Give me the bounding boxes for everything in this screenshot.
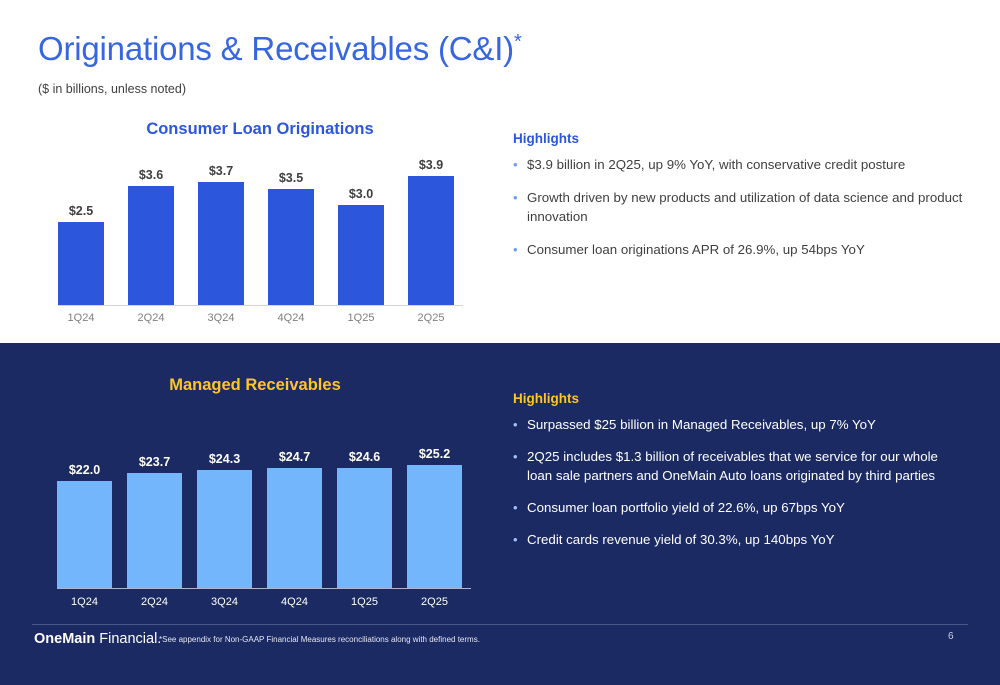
x-axis-category-label: 1Q25: [351, 596, 378, 608]
x-axis-category-label: 4Q24: [278, 312, 305, 324]
bar-value-label: $3.5: [279, 171, 303, 185]
bar-group: $25.22Q25: [407, 439, 462, 588]
highlight-bullet-item: •Credit cards revenue yield of 30.3%, up…: [513, 531, 965, 550]
bar-group: $22.01Q24: [57, 439, 112, 588]
bullet-dot-icon: •: [513, 531, 527, 549]
x-axis-category-label: 3Q24: [208, 312, 235, 324]
bar-container: $22.01Q24$23.72Q24$24.33Q24$24.74Q24$24.…: [57, 439, 464, 588]
bar-group: $2.51Q24: [58, 154, 104, 305]
highlight-bullet-item: •Consumer loan portfolio yield of 22.6%,…: [513, 499, 965, 518]
highlight-bullet-item: •Growth driven by new products and utili…: [513, 189, 963, 227]
page-number: 6: [948, 631, 954, 642]
bar-value-label: $24.6: [349, 450, 380, 464]
bar-value-label: $3.9: [419, 158, 443, 172]
x-axis-category-label: 1Q24: [68, 312, 95, 324]
highlight-bullet-item: •2Q25 includes $1.3 billion of receivabl…: [513, 448, 965, 486]
bullet-dot-icon: •: [513, 156, 527, 174]
bar: [58, 222, 104, 305]
bar: [267, 468, 322, 588]
x-axis-category-label: 1Q25: [348, 312, 375, 324]
highlight-bullet-item: •Surpassed $25 billion in Managed Receiv…: [513, 416, 965, 435]
bar-value-label: $24.3: [209, 452, 240, 466]
bar-value-label: $25.2: [419, 447, 450, 461]
bar-group: $3.62Q24: [128, 154, 174, 305]
bar: [268, 189, 314, 305]
chart-consumer-loan-originations: $2.51Q24$3.62Q24$3.73Q24$3.54Q24$3.01Q25…: [58, 155, 465, 306]
bar-group: $23.72Q24: [127, 439, 182, 588]
bar: [408, 176, 454, 305]
highlights-receivables: Highlights •Surpassed $25 billion in Man…: [513, 391, 965, 562]
highlight-bullet-item: •Consumer loan originations APR of 26.9%…: [513, 241, 963, 260]
bar: [338, 205, 384, 305]
highlights-list: •Surpassed $25 billion in Managed Receiv…: [513, 416, 965, 549]
bullet-dot-icon: •: [513, 416, 527, 434]
x-axis-category-label: 2Q24: [138, 312, 165, 324]
highlight-bullet-text: Credit cards revenue yield of 30.3%, up …: [527, 531, 965, 550]
bar-value-label: $23.7: [139, 455, 170, 469]
bar-group: $3.92Q25: [408, 154, 454, 305]
bar: [127, 473, 182, 588]
highlights-originations: Highlights •$3.9 billion in 2Q25, up 9% …: [513, 131, 963, 274]
highlight-bullet-text: Consumer loan originations APR of 26.9%,…: [527, 241, 963, 260]
highlight-bullet-text: 2Q25 includes $1.3 billion of receivable…: [527, 448, 965, 486]
onemain-financial-logo: OneMain Financial.: [34, 631, 161, 647]
bar-value-label: $2.5: [69, 204, 93, 218]
x-axis-line: [58, 305, 463, 306]
bar-group: $24.61Q25: [337, 439, 392, 588]
bar-container: $2.51Q24$3.62Q24$3.73Q24$3.54Q24$3.01Q25…: [58, 154, 465, 305]
bar-value-label: $24.7: [279, 450, 310, 464]
x-axis-category-label: 3Q24: [211, 596, 238, 608]
logo-bold-text: OneMain: [34, 631, 95, 647]
x-axis-line: [57, 588, 471, 589]
x-axis-category-label: 4Q24: [281, 596, 308, 608]
bullet-dot-icon: •: [513, 499, 527, 517]
page-title-footnote-marker: *: [514, 31, 522, 53]
highlights-heading: Highlights: [513, 131, 963, 146]
bar: [407, 465, 462, 588]
bar-group: $3.73Q24: [198, 154, 244, 305]
top-section: Originations & Receivables (C&I)* ($ in …: [0, 0, 1000, 343]
bar-value-label: $22.0: [69, 463, 100, 477]
chart-title-originations: Consumer Loan Originations: [60, 120, 460, 139]
bar-group: $24.74Q24: [267, 439, 322, 588]
bar: [337, 468, 392, 588]
bullet-dot-icon: •: [513, 241, 527, 259]
bar: [197, 470, 252, 588]
x-axis-category-label: 2Q25: [421, 596, 448, 608]
x-axis-category-label: 2Q25: [418, 312, 445, 324]
slide: Originations & Receivables (C&I)* ($ in …: [0, 0, 1000, 685]
x-axis-category-label: 1Q24: [71, 596, 98, 608]
footer-divider: [32, 624, 968, 625]
bar: [198, 182, 244, 305]
page-title: Originations & Receivables (C&I)*: [38, 30, 522, 68]
bar-value-label: $3.6: [139, 168, 163, 182]
highlight-bullet-item: •$3.9 billion in 2Q25, up 9% YoY, with c…: [513, 156, 963, 175]
bar-group: $24.33Q24: [197, 439, 252, 588]
page-subtitle: ($ in billions, unless noted): [38, 82, 186, 96]
bullet-dot-icon: •: [513, 448, 527, 466]
highlight-bullet-text: $3.9 billion in 2Q25, up 9% YoY, with co…: [527, 156, 963, 175]
highlights-heading: Highlights: [513, 391, 965, 406]
logo-light-text: Financial.: [99, 631, 161, 647]
highlight-bullet-text: Consumer loan portfolio yield of 22.6%, …: [527, 499, 965, 518]
chart-title-receivables: Managed Receivables: [55, 376, 455, 395]
highlights-list: •$3.9 billion in 2Q25, up 9% YoY, with c…: [513, 156, 963, 260]
footnote-text: *See appendix for Non-GAAP Financial Mea…: [159, 635, 480, 644]
bar: [128, 186, 174, 305]
bar-value-label: $3.0: [349, 187, 373, 201]
bar: [57, 481, 112, 588]
x-axis-category-label: 2Q24: [141, 596, 168, 608]
highlight-bullet-text: Growth driven by new products and utiliz…: [527, 189, 963, 227]
bar-value-label: $3.7: [209, 164, 233, 178]
bullet-dot-icon: •: [513, 189, 527, 207]
bar-group: $3.01Q25: [338, 154, 384, 305]
highlight-bullet-text: Surpassed $25 billion in Managed Receiva…: [527, 416, 965, 435]
page-title-text: Originations & Receivables (C&I): [38, 30, 514, 67]
chart-managed-receivables: $22.01Q24$23.72Q24$24.33Q24$24.74Q24$24.…: [57, 440, 464, 589]
bar-group: $3.54Q24: [268, 154, 314, 305]
